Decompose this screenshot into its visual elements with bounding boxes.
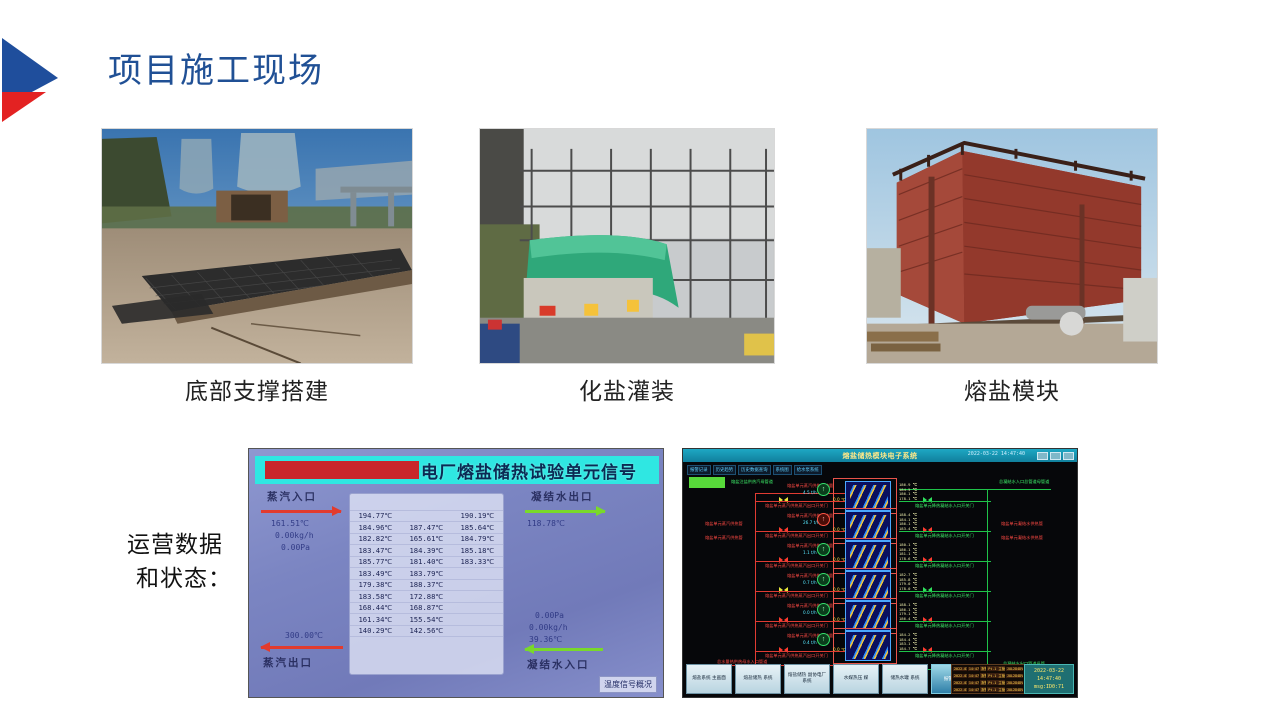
scada-alarm-cell: JOL2D4DVALVE0 xyxy=(1006,674,1023,678)
hmi-table-cell: 142.56℃ xyxy=(401,625,452,637)
scada-heat-exchanger[interactable] xyxy=(845,541,891,571)
scada-alarm-cell: Pt.1 主管 Pt.U xyxy=(987,680,1005,685)
hmi-table-row: 183.58℃172.88℃ xyxy=(350,591,503,603)
scada-pump-icon[interactable]: ↑ xyxy=(817,573,830,586)
hmi-table-cell: 185.64℃ xyxy=(452,522,503,534)
scada-alarm-cell: 2022-03-22 xyxy=(953,667,967,671)
scada-title-bar: 熔盐储热模块电子系统 2022-03-22 14:47:40 xyxy=(683,449,1077,462)
hmi-table-cell: 140.29℃ xyxy=(350,625,401,637)
scada-alarm-cell: 报警 xyxy=(980,673,986,678)
hmi-table-cell xyxy=(350,494,401,510)
hmi-table-row: 184.96℃187.47℃185.64℃ xyxy=(350,522,503,534)
hmi-cond-outlet-label: 凝结水出口 xyxy=(531,489,594,504)
hmi-table-cell: 155.54℃ xyxy=(401,614,452,626)
scada-clock: 2022-03-22 14:47:40 msg:ID0:71 xyxy=(1024,664,1074,694)
hmi-table-cell xyxy=(452,579,503,591)
scada-alarm-cell: Pt.1 主管 Pt.U xyxy=(987,666,1005,671)
scada-alarm-cell: Pt.1 主管 Pt.U xyxy=(987,673,1005,678)
scada-temp-readout: 186.9 ℃184.5 ℃186.1 ℃178.1 ℃ xyxy=(899,483,917,501)
scada-flow-value: 1.1 t/h xyxy=(803,550,817,555)
scada-heat-exchanger[interactable] xyxy=(845,571,891,601)
hmi-table-cell: 161.34℃ xyxy=(350,614,401,626)
hmi-table-row: 161.34℃155.54℃ xyxy=(350,614,503,626)
scada-heat-exchanger[interactable] xyxy=(845,631,891,661)
scada-tab[interactable]: 水媒热压 媒 xyxy=(833,664,879,694)
hmi-table-grid: 194.77℃190.19℃184.96℃187.47℃185.64℃182.8… xyxy=(350,494,503,657)
hmi-table-cell xyxy=(452,568,503,580)
scada-alarm-cell: JOL2D4DVALVE0 xyxy=(1006,667,1023,671)
hmi-steam-inlet-pressure: 0.00Pa xyxy=(281,543,310,552)
ops-label-line2: 和状态： xyxy=(100,562,250,596)
scada-pump-icon[interactable]: ↑ xyxy=(817,603,830,616)
hmi-table-cell: 179.38℃ xyxy=(350,579,401,591)
photo-row xyxy=(0,128,1280,364)
hmi-table-cell: 190.19℃ xyxy=(452,510,503,522)
hmi-table-cell: 183.33℃ xyxy=(452,556,503,568)
scada-clock-date: 2022-03-22 xyxy=(1034,667,1064,675)
scada-steam-pipe xyxy=(755,621,845,622)
scada-condensate-pipe xyxy=(899,561,991,562)
scada-tab[interactable]: 熔盐储热 系统 xyxy=(735,664,781,694)
hmi-table-row: 183.47℃184.39℃185.18℃ xyxy=(350,545,503,557)
scada-left-label-1: 熔盐单元蒸汽供热管 xyxy=(705,521,743,527)
scada-pump-icon[interactable]: ↑ xyxy=(817,543,830,556)
scada-window-buttons[interactable] xyxy=(1037,452,1074,460)
hmi-steam-outlet-arrow xyxy=(261,645,343,649)
ops-label-line1: 运营数据 xyxy=(100,528,250,562)
scada-alarm-cell: 14:47:35 xyxy=(968,674,979,678)
photo-salt-module xyxy=(866,128,1158,364)
hmi-table-cell: 183.47℃ xyxy=(350,545,401,557)
hmi-table-cell: 184.96℃ xyxy=(350,522,401,534)
hmi-cond-inlet-flow: 0.00kg/h xyxy=(529,623,568,632)
hmi-table-cell: 185.77℃ xyxy=(350,556,401,568)
scada-alarm-cell: JOL2D4DVALVE0 xyxy=(1006,681,1023,685)
scada-alarm-cell: JOL2D4DVALVE0 xyxy=(1006,688,1023,692)
company-logo xyxy=(0,30,62,122)
scada-screenshot: 熔盐储热模块电子系统 2022-03-22 14:47:40 报警记录历史趋势历… xyxy=(682,448,1078,698)
hmi-table-row: 182.82℃165.61℃184.79℃ xyxy=(350,533,503,545)
scada-diagram: 熔盐注盐供热汽母管道 熔盐单元蒸汽供热管 熔盐单元蒸汽供热管 总凝结水入口总管道… xyxy=(683,473,1077,661)
photo-foundation xyxy=(101,128,413,364)
page-title: 项目施工现场 xyxy=(108,43,324,92)
slide-canvas: 项目施工现场 xyxy=(0,0,1280,720)
hmi-steam-outlet-label: 蒸汽出口 xyxy=(263,655,313,670)
scada-alarm-cell: 报警 xyxy=(980,680,986,685)
scada-temp-readout: 182.7 ℃185.8 ℃179.0 ℃178.0 ℃ xyxy=(899,573,917,591)
scada-condensate-pipe xyxy=(899,501,991,502)
scada-alarm-cell: 报警 xyxy=(980,666,986,671)
scada-condensate-pipe xyxy=(899,621,991,622)
hmi-table-row: 183.49℃183.79℃ xyxy=(350,568,503,580)
hmi-table-cell: 168.44℃ xyxy=(350,602,401,614)
scada-steam-pipe xyxy=(755,561,845,562)
hmi-table-cell xyxy=(401,494,452,510)
scada-status-indicator xyxy=(689,477,725,488)
scada-title: 熔盐储热模块电子系统 xyxy=(843,451,918,461)
hmi-title-bar: 电厂熔盐储热试验单元信号 xyxy=(255,456,659,484)
hmi-steam-inlet-arrow xyxy=(261,509,341,513)
hmi-cond-outlet-temp: 118.78℃ xyxy=(527,519,565,528)
hmi-table-cell: 194.77℃ xyxy=(350,510,401,522)
scada-pump-icon[interactable]: ↑ xyxy=(817,633,830,646)
caption-2: 化盐灌装 xyxy=(479,372,775,406)
scada-inlet-valve-label: 熔盐单元蒸汽供热蒸汽出口开关门 xyxy=(765,623,828,629)
hmi-table-cell xyxy=(452,637,503,657)
minimize-icon[interactable] xyxy=(1037,452,1048,460)
hmi-table-cell xyxy=(452,602,503,614)
scada-temp-readout: 188.1 ℃186.1 ℃179.1 ℃186.4 ℃ xyxy=(899,603,917,621)
hmi-screenshot: 电厂熔盐储热试验单元信号 蒸汽入口 161.51℃ 0.00kg/h 0.00P… xyxy=(248,448,664,698)
scada-alarm-cell: 2022-03-22 xyxy=(953,681,967,685)
scada-condensate-pipe xyxy=(899,591,991,592)
hmi-cond-inlet-pressure: 0.00Pa xyxy=(535,611,564,620)
hmi-table-cell xyxy=(401,637,452,657)
hmi-table-row xyxy=(350,637,503,657)
scada-coil-icon xyxy=(850,545,888,569)
scada-pump-icon[interactable]: ↑ xyxy=(817,483,830,496)
scada-alarm-cell: 14:47:40 xyxy=(968,688,979,692)
hmi-table-cell: 187.47℃ xyxy=(401,522,452,534)
scada-coil-icon xyxy=(850,515,888,539)
scada-alarm-cell: 报警 xyxy=(980,687,986,692)
hmi-table-cell: 168.87℃ xyxy=(401,602,452,614)
hmi-steam-inlet-flow: 0.00kg/h xyxy=(275,531,314,540)
scada-temp-readout: 188.4 ℃184.1 ℃186.1 ℃183.4 ℃ xyxy=(899,513,917,531)
close-icon[interactable] xyxy=(1063,452,1074,460)
scada-flow-value: 4.5 t/h xyxy=(803,490,817,495)
scada-heat-exchanger[interactable] xyxy=(845,511,891,541)
hmi-table-cell xyxy=(452,614,503,626)
hmi-table-cell: 183.49℃ xyxy=(350,568,401,580)
hmi-table-cell xyxy=(452,625,503,637)
scada-alarm-cell: 2022-03-22 xyxy=(953,674,967,678)
hmi-table-cell xyxy=(452,494,503,510)
hmi-title: 电厂熔盐储热试验单元信号 xyxy=(421,458,637,483)
scada-clock-msg: msg:ID0:71 xyxy=(1034,683,1064,691)
caption-1: 底部支撑搭建 xyxy=(101,372,413,406)
scada-clock-time: 14:47:40 xyxy=(1037,675,1061,683)
hmi-steam-outlet-temp: 300.00℃ xyxy=(285,631,323,640)
hmi-table-cell: 165.61℃ xyxy=(401,533,452,545)
scada-tab-bar[interactable]: 熔盐系统 主画面熔盐储热 系统熔盐储热 副协电厂 系统水媒热压 媒储热水罐 系统 xyxy=(686,664,928,694)
hmi-table-cell: 184.39℃ xyxy=(401,545,452,557)
scada-coil-icon xyxy=(850,575,888,599)
logo-red-triangle xyxy=(2,92,46,122)
scada-steam-pipe xyxy=(755,501,845,502)
scada-condensate-top-branch xyxy=(899,489,1051,490)
scada-steam-pipe xyxy=(755,531,845,532)
scada-heat-exchanger[interactable] xyxy=(845,601,891,631)
scada-inlet-valve-label: 熔盐单元蒸汽供热蒸汽出口开关门 xyxy=(765,593,828,599)
scada-right-label-1: 熔盐单元凝结水供热管 xyxy=(1001,521,1043,527)
scada-tab[interactable]: 熔盐储热 副协电厂 系统 xyxy=(784,664,830,694)
scada-inlet-valve-label: 熔盐单元蒸汽供热蒸汽出口开关门 xyxy=(765,563,828,569)
hmi-temp-overview-button[interactable]: 温度信号概况 xyxy=(599,676,657,693)
hmi-table-row xyxy=(350,494,503,510)
scada-alarm-cell: 14:47:38 xyxy=(968,681,979,685)
scada-left-label-2: 熔盐单元蒸汽供热管 xyxy=(705,535,743,541)
hmi-cond-inlet-label: 凝结水入口 xyxy=(527,657,590,672)
caption-3: 熔盐模块 xyxy=(866,372,1158,406)
hmi-table-cell: 183.79℃ xyxy=(401,568,452,580)
scada-condensate-pipe xyxy=(899,651,991,652)
hmi-table-cell xyxy=(452,591,503,603)
maximize-icon[interactable] xyxy=(1050,452,1061,460)
scada-pump-icon[interactable]: ↑ xyxy=(817,513,830,526)
scada-inlet-valve-label: 熔盐单元蒸汽供热蒸汽出口开关门 xyxy=(765,503,828,509)
hmi-table-row: 168.44℃168.87℃ xyxy=(350,602,503,614)
scada-alarm-cell: 2022-03-22 xyxy=(953,688,967,692)
hmi-table-cell: 181.40℃ xyxy=(401,556,452,568)
hmi-table-cell: 182.82℃ xyxy=(350,533,401,545)
hmi-table-cell: 184.79℃ xyxy=(452,533,503,545)
scada-temp-readout: 180.1 ℃186.1 ℃181.1 ℃178.6 ℃ xyxy=(899,543,917,561)
hmi-table-row: 179.38℃188.37℃ xyxy=(350,579,503,591)
hmi-table-cell: 183.58℃ xyxy=(350,591,401,603)
scada-tab[interactable]: 储热水罐 系统 xyxy=(882,664,928,694)
hmi-redaction-block xyxy=(265,461,419,479)
hmi-table-row: 140.29℃142.56℃ xyxy=(350,625,503,637)
scada-main-condensate-header xyxy=(987,489,988,671)
hmi-steam-inlet-label: 蒸汽入口 xyxy=(267,489,317,504)
scada-steam-pipe xyxy=(755,651,845,652)
scada-temp-readout: 184.2 ℃184.4 ℃183.1 ℃184.7 ℃ xyxy=(899,633,917,651)
hmi-table-row: 194.77℃190.19℃ xyxy=(350,510,503,522)
scada-coil-icon xyxy=(850,635,888,659)
scada-flow-value: 0.4 t/h xyxy=(803,640,817,645)
hmi-cond-inlet-arrow xyxy=(525,647,603,651)
scada-heat-exchanger[interactable] xyxy=(845,481,891,511)
scada-header-right-label: 总凝结水入口总管道母管道 xyxy=(999,479,1049,485)
scada-coil-icon xyxy=(850,485,888,509)
scada-main-steam-header xyxy=(755,493,756,669)
hmi-table-cell: 188.37℃ xyxy=(401,579,452,591)
scada-steam-pipe xyxy=(755,591,845,592)
scada-inlet-valve-label: 熔盐单元蒸汽供热蒸汽出口开关门 xyxy=(765,653,828,659)
scada-tab[interactable]: 熔盐系统 主画面 xyxy=(686,664,732,694)
scada-steam-top-branch xyxy=(755,493,845,494)
hmi-cond-inlet-temp: 39.36℃ xyxy=(529,635,562,644)
hmi-body: 蒸汽入口 161.51℃ 0.00kg/h 0.00Pa 300.00℃ 蒸汽出… xyxy=(249,485,663,697)
scada-status-label: 熔盐注盐供热汽母管道 xyxy=(731,479,773,485)
hmi-temperature-table: 194.77℃190.19℃184.96℃187.47℃185.64℃182.8… xyxy=(349,493,504,675)
scada-inlet-valve-label: 熔盐单元蒸汽供热蒸汽出口开关门 xyxy=(765,533,828,539)
scada-alarm-cell: Pt.1 主管 Pt.U xyxy=(987,687,1005,692)
hmi-steam-inlet-temp: 161.51℃ xyxy=(271,519,309,528)
scada-flow-value: 0.0 t/h xyxy=(803,610,817,615)
hmi-table-row: 185.77℃181.40℃183.33℃ xyxy=(350,556,503,568)
hmi-table-cell xyxy=(401,510,452,522)
photo-captions: 底部支撑搭建 化盐灌装 熔盐模块 xyxy=(0,372,1280,406)
scada-flow-value: 0.7 t/h xyxy=(803,580,817,585)
scada-condensate-pipe xyxy=(899,531,991,532)
photo-salt-melting xyxy=(479,128,775,364)
scada-title-clock: 2022-03-22 14:47:40 xyxy=(968,451,1025,457)
scada-alarm-cell: 14:47:31 xyxy=(968,667,979,671)
hmi-table-cell: 185.18℃ xyxy=(452,545,503,557)
scada-coil-icon xyxy=(850,605,888,629)
hmi-table-cell: 172.88℃ xyxy=(401,591,452,603)
operations-data-label: 运营数据 和状态： xyxy=(100,528,250,596)
hmi-table-cell xyxy=(350,637,401,657)
scada-right-label-2: 熔盐单元凝结水供热管 xyxy=(1001,535,1043,541)
hmi-cond-outlet-arrow xyxy=(525,509,605,513)
